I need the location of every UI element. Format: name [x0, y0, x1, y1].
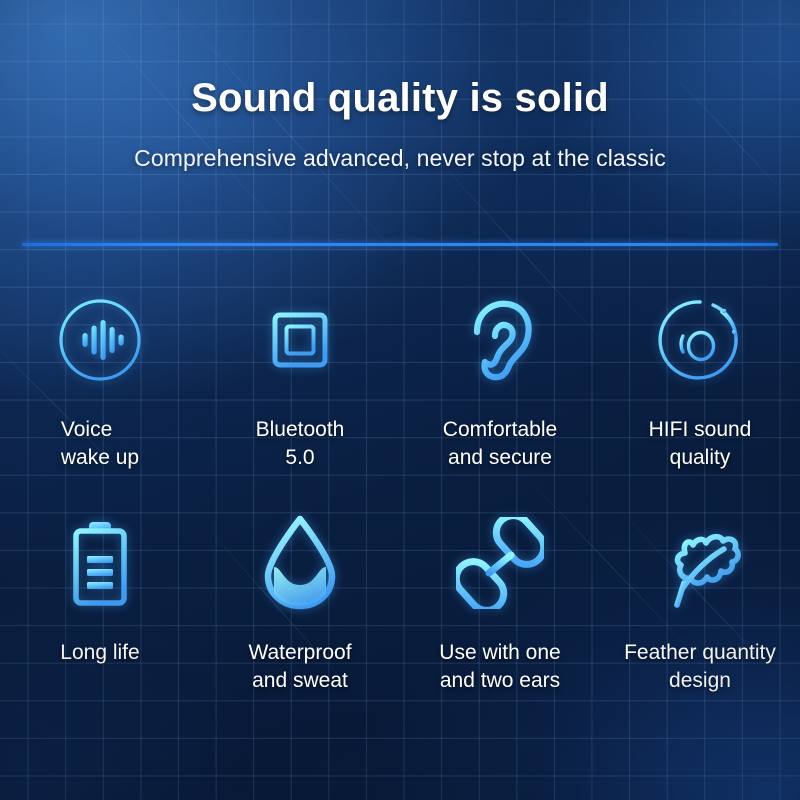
feature-label: Feather quantity design: [624, 639, 776, 694]
feature-row-1: Voice wake up: [0, 292, 800, 471]
feature-label: Use with one and two ears: [439, 639, 560, 694]
voice-waveform-icon: [54, 292, 146, 388]
feature-row-2: Long life: [0, 515, 800, 694]
feature-grid: Voice wake up: [0, 292, 800, 695]
page-title: Sound quality is solid: [0, 0, 800, 121]
chain-link-icon: [456, 515, 544, 611]
feature-label: Voice wake up: [61, 416, 139, 471]
feature-bluetooth: Bluetooth 5.0: [200, 292, 400, 471]
battery-icon: [63, 515, 137, 611]
water-drop-icon: [260, 515, 340, 611]
feature-label: HIFI sound quality: [649, 416, 752, 471]
feature-voice-wake-up: Voice wake up: [0, 292, 200, 471]
cpu-chip-icon: [257, 292, 343, 388]
feature-feather-design: Feather quantity design: [600, 515, 800, 694]
header-divider: [22, 243, 778, 246]
header: Sound quality is solid Comprehensive adv…: [0, 0, 800, 172]
promo-banner: Sound quality is solid Comprehensive adv…: [0, 0, 800, 800]
vinyl-music-note-icon: [654, 292, 746, 388]
page-subtitle: Comprehensive advanced, never stop at th…: [0, 121, 800, 172]
feature-label: Bluetooth 5.0: [256, 416, 345, 471]
feature-label: Waterproof and sweat: [248, 639, 351, 694]
ear-icon: [457, 292, 543, 388]
feature-label: Long life: [60, 639, 139, 667]
feature-one-two-ears: Use with one and two ears: [400, 515, 600, 694]
feature-hifi-sound: HIFI sound quality: [600, 292, 800, 471]
feature-comfortable-secure: Comfortable and secure: [400, 292, 600, 471]
feature-waterproof: Waterproof and sweat: [200, 515, 400, 694]
feature-label: Comfortable and secure: [443, 416, 557, 471]
feature-long-life: Long life: [0, 515, 200, 694]
feather-icon: [654, 515, 746, 611]
